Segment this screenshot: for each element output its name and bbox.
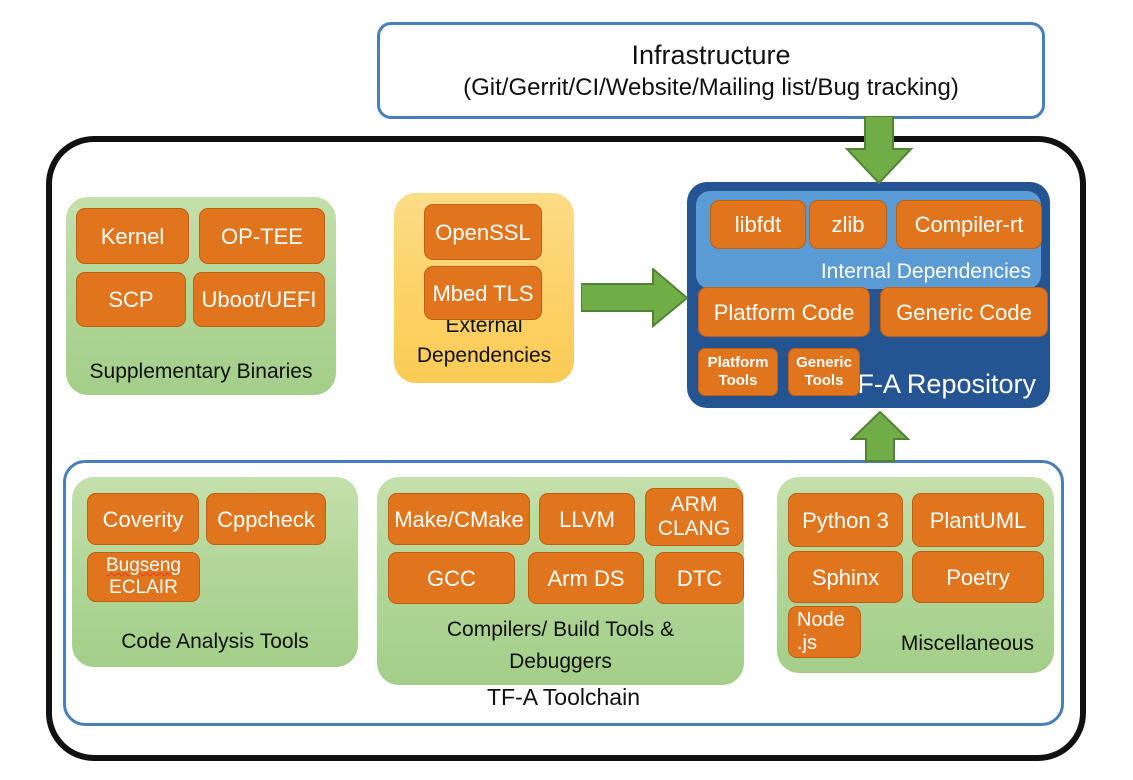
box-generic-code[interactable]: Generic Code: [880, 287, 1048, 337]
arm-clang-line2: CLANG: [658, 517, 730, 541]
box-compiler-rt[interactable]: Compiler-rt: [896, 200, 1042, 249]
box-poetry[interactable]: Poetry: [912, 551, 1044, 603]
box-scp[interactable]: SCP: [76, 272, 186, 327]
arrow-infrastructure-to-repository: [843, 116, 915, 186]
box-node-js[interactable]: Node .js: [788, 606, 861, 658]
box-bugseng-eclair[interactable]: Bugseng ECLAIR: [87, 552, 200, 602]
box-python-3[interactable]: Python 3: [788, 493, 903, 547]
internal-dependencies-label: Internal Dependencies: [821, 259, 1031, 285]
arrow-toolchain-to-repository: [849, 411, 911, 463]
compilers-label-line2: Debuggers: [377, 648, 744, 675]
box-zlib[interactable]: zlib: [809, 200, 887, 249]
box-openssl[interactable]: OpenSSL: [424, 204, 542, 260]
box-platform-code[interactable]: Platform Code: [698, 287, 870, 337]
box-arm-clang[interactable]: ARM CLANG: [645, 488, 743, 546]
tfa-toolchain-label: TF-A Toolchain: [66, 683, 1061, 711]
box-arm-ds[interactable]: Arm DS: [528, 552, 644, 604]
box-libfdt[interactable]: libfdt: [710, 200, 806, 249]
miscellaneous-label: Miscellaneous: [901, 630, 1034, 657]
box-platform-tools[interactable]: Platform Tools: [698, 348, 778, 396]
box-mbed-tls[interactable]: Mbed TLS: [424, 266, 542, 320]
external-dependencies-label-line2: Dependencies: [394, 342, 574, 369]
arm-clang-line1: ARM: [671, 493, 718, 517]
box-kernel[interactable]: Kernel: [76, 208, 189, 264]
box-cppcheck[interactable]: Cppcheck: [206, 493, 326, 545]
node-js-line1: Node: [797, 609, 845, 632]
infrastructure-subtitle: (Git/Gerrit/CI/Website/Mailing list/Bug …: [463, 72, 959, 103]
box-generic-tools[interactable]: Generic Tools: [788, 348, 860, 396]
infrastructure-box: Infrastructure (Git/Gerrit/CI/Website/Ma…: [377, 22, 1045, 119]
platform-tools-line1: Platform: [708, 354, 769, 372]
box-uboot-uefi[interactable]: Uboot/UEFI: [193, 272, 325, 327]
generic-tools-line2: Tools: [805, 372, 844, 390]
bugseng-eclair-line1: Bugseng: [106, 555, 181, 577]
arrow-external-deps-to-repository: [581, 268, 689, 328]
node-js-line2: .js: [797, 632, 817, 655]
supplementary-binaries-label: Supplementary Binaries: [66, 358, 336, 385]
infrastructure-title: Infrastructure: [631, 38, 790, 72]
tfa-repository-title: TF-A Repository: [841, 368, 1036, 400]
compilers-label-line1: Compilers/ Build Tools &: [377, 616, 744, 643]
box-make-cmake[interactable]: Make/CMake: [388, 493, 530, 545]
box-dtc[interactable]: DTC: [655, 552, 744, 604]
box-coverity[interactable]: Coverity: [87, 493, 199, 545]
platform-tools-line2: Tools: [719, 372, 758, 390]
bugseng-eclair-line2: ECLAIR: [109, 577, 178, 599]
generic-tools-line1: Generic: [796, 354, 852, 372]
box-sphinx[interactable]: Sphinx: [788, 551, 903, 603]
code-analysis-tools-label: Code Analysis Tools: [72, 628, 358, 655]
box-gcc[interactable]: GCC: [388, 552, 515, 604]
box-plantuml[interactable]: PlantUML: [912, 493, 1044, 547]
box-op-tee[interactable]: OP-TEE: [199, 208, 325, 264]
box-llvm[interactable]: LLVM: [539, 493, 635, 545]
